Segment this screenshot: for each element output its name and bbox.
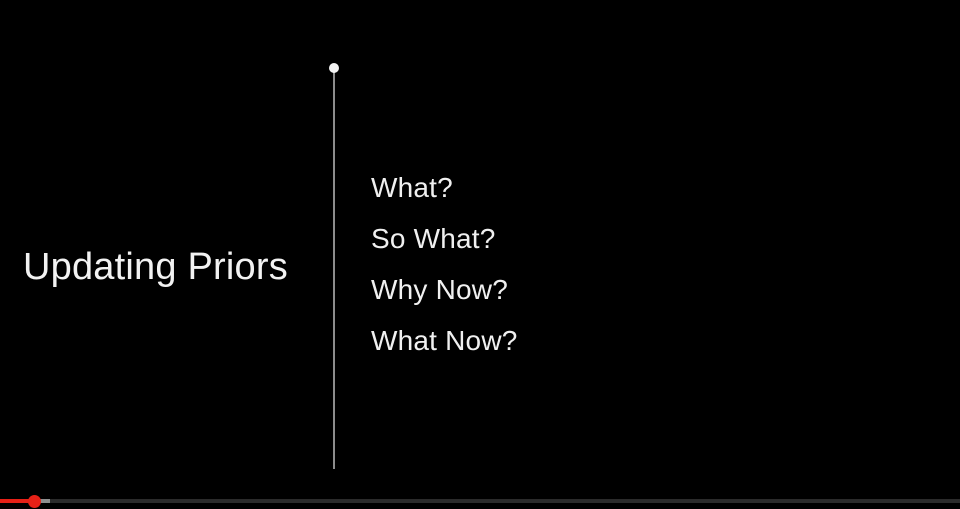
progress-scrubber-handle[interactable]	[28, 495, 41, 508]
video-player[interactable]: Updating Priors What? So What? Why Now? …	[0, 0, 960, 509]
page-title: Updating Priors	[23, 244, 288, 290]
list-item: So What?	[371, 222, 518, 256]
list-item: What?	[371, 171, 518, 205]
list-item: Why Now?	[371, 273, 518, 307]
question-list: What? So What? Why Now? What Now?	[371, 171, 518, 358]
list-item: What Now?	[371, 324, 518, 358]
progress-scrubber[interactable]	[0, 499, 960, 503]
divider-dot-icon	[329, 63, 339, 73]
vertical-divider-line	[333, 68, 335, 469]
presentation-slide: Updating Priors What? So What? Why Now? …	[0, 0, 960, 509]
